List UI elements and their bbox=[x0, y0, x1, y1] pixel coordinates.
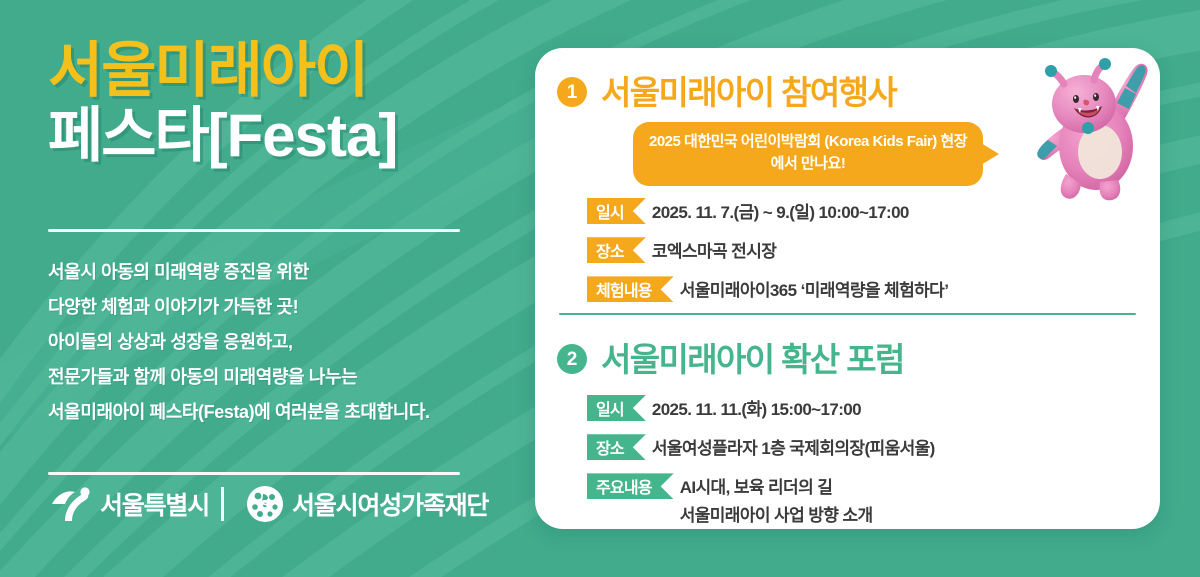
lead-copy-line: 전문가들과 함께 아동의 미래역량을 나누는 bbox=[48, 360, 498, 395]
detail-row-value: 서울여성플라자 1층 국제회의장(피움서울) bbox=[646, 434, 1160, 462]
lead-copy-line: 아이들의 상상과 성장을 응원하고, bbox=[48, 325, 498, 360]
section-number-badge-2: 2 bbox=[557, 344, 587, 374]
detail-row: 일시 2025. 11. 11.(화) 15:00~17:00 bbox=[587, 395, 1160, 423]
section-1-header: 1 서울미래아이 참여행사 bbox=[535, 64, 1160, 120]
detail-row-value: 코엑스마곡 전시장 bbox=[646, 237, 1160, 265]
info-card: 1 서울미래아이 참여행사 2025 대한민국 어린이박람회 (Korea Ki… bbox=[535, 48, 1160, 529]
event-poster: 서울미래아이 페스타[Festa] 서울시 아동의 미래역량 증진을 위한 다양… bbox=[0, 0, 1200, 577]
page-title: 서울미래아이 페스타[Festa] bbox=[48, 40, 498, 166]
section-2-title: 서울미래아이 확산 포럼 bbox=[601, 343, 904, 376]
detail-row: 체험내용 서울미래아이365 ‘미래역량을 체험하다’ bbox=[587, 276, 1160, 304]
section-forum: 2 서울미래아이 확산 포럼 일시 2025. 11. 11.(화) 15:00… bbox=[535, 315, 1160, 540]
speech-bubble-wrapper: 2025 대한민국 어린이박람회 (Korea Kids Fair) 현장에서 … bbox=[633, 122, 983, 186]
detail-row-value: 2025. 11. 7.(금) ~ 9.(일) 10:00~17:00 bbox=[646, 198, 1160, 226]
seoul-foundation-of-women-and-family-logo-icon: S bbox=[246, 485, 284, 523]
logo-seoul-city-label: 서울특별시 bbox=[100, 486, 209, 522]
title-line-secondary-en: [Festa] bbox=[208, 102, 398, 169]
speech-bubble: 2025 대한민국 어린이박람회 (Korea Kids Fair) 현장에서 … bbox=[633, 122, 983, 186]
divider-bottom bbox=[48, 472, 460, 475]
detail-row-label: 일시 bbox=[587, 395, 646, 421]
detail-row-label: 장소 bbox=[587, 434, 646, 460]
lead-copy-line: 다양한 체험과 이야기가 가득한 곳! bbox=[48, 290, 498, 325]
detail-row-label: 주요내용 bbox=[587, 473, 674, 499]
detail-row: 일시 2025. 11. 7.(금) ~ 9.(일) 10:00~17:00 bbox=[587, 198, 1160, 226]
left-panel: 서울미래아이 페스타[Festa] 서울시 아동의 미래역량 증진을 위한 다양… bbox=[0, 0, 520, 577]
section-1-title: 서울미래아이 참여행사 bbox=[601, 76, 896, 109]
detail-row-value: 서울미래아이365 ‘미래역량을 체험하다’ bbox=[674, 276, 1160, 304]
lead-copy: 서울시 아동의 미래역량 증진을 위한 다양한 체험과 이야기가 가득한 곳! … bbox=[48, 255, 498, 430]
title-line-primary: 서울미래아이 bbox=[48, 40, 498, 101]
detail-row: 주요내용 AI시대, 보육 리더의 길 서울미래아이 사업 방향 소개 bbox=[587, 473, 1160, 528]
title-line-secondary: 페스타[Festa] bbox=[48, 105, 498, 166]
logo-separator bbox=[221, 487, 224, 521]
speech-bubble-tail-icon bbox=[981, 143, 999, 165]
detail-row-value: AI시대, 보육 리더의 길 서울미래아이 사업 방향 소개 bbox=[674, 473, 1160, 528]
lead-copy-line: 서울미래아이 페스타(Festa)에 여러분을 초대합니다. bbox=[48, 395, 498, 430]
detail-row: 장소 코엑스마곡 전시장 bbox=[587, 237, 1160, 265]
logo-row: 서울특별시 S bbox=[48, 484, 488, 524]
section-number-badge-1: 1 bbox=[557, 77, 587, 107]
section-2-rows: 일시 2025. 11. 11.(화) 15:00~17:00 장소 서울여성플… bbox=[535, 387, 1160, 529]
detail-row-label: 장소 bbox=[587, 237, 646, 263]
title-line-secondary-ko: 페스타 bbox=[48, 102, 208, 169]
logo-seoul-foundation-label: 서울시여성가족재단 bbox=[292, 486, 488, 522]
detail-row: 장소 서울여성플라자 1층 국제회의장(피움서울) bbox=[587, 434, 1160, 462]
logo-seoul-city: 서울특별시 bbox=[48, 484, 224, 524]
logo-seoul-foundation: S 서울시여성가족재단 bbox=[246, 485, 488, 523]
detail-row-label: 체험내용 bbox=[587, 276, 674, 302]
divider-top bbox=[48, 229, 460, 232]
lead-copy-line: 서울시 아동의 미래역량 증진을 위한 bbox=[48, 255, 498, 290]
section-2-header: 2 서울미래아이 확산 포럼 bbox=[535, 331, 1160, 387]
seoul-city-logo-icon bbox=[48, 484, 92, 524]
detail-row-label: 일시 bbox=[587, 198, 646, 224]
svg-text:S: S bbox=[261, 497, 270, 512]
section-participation-event: 1 서울미래아이 참여행사 2025 대한민국 어린이박람회 (Korea Ki… bbox=[535, 48, 1160, 316]
detail-row-value: 2025. 11. 11.(화) 15:00~17:00 bbox=[646, 395, 1160, 423]
